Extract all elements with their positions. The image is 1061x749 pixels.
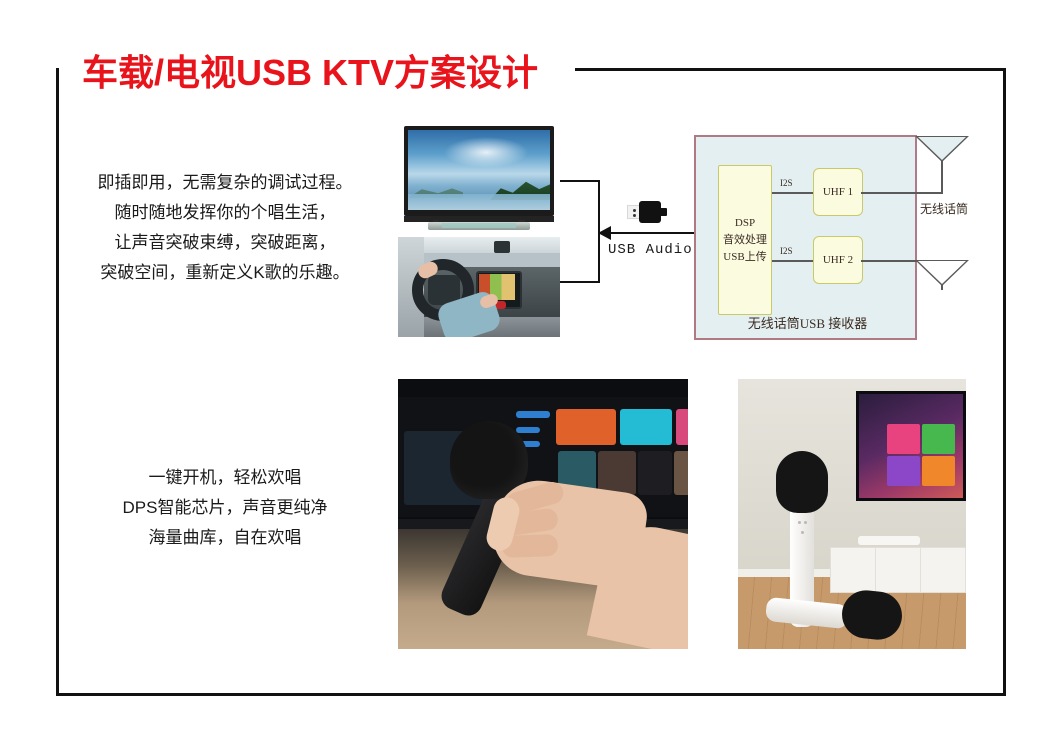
mic-control-dot-1 — [798, 521, 801, 524]
feature-copy-bottom: 一键开机，轻松欢唱 DPS智能芯片，声音更纯净 海量曲库，自在欢唱 — [70, 463, 380, 553]
antenna-feed-line-1 — [861, 192, 942, 194]
room-tv-cabinet — [830, 547, 966, 593]
room-tv-screen — [859, 394, 963, 498]
usb-cable-stub — [660, 208, 667, 216]
tv-wallpaper-lake — [408, 194, 550, 210]
copy-top-line-2: 随时随地发挥你的个唱生活， — [70, 198, 380, 228]
display-menu-chip-2 — [516, 427, 540, 433]
display-tile-cyan — [620, 409, 672, 445]
wireless-receiver-block-diagram: DSP 音效处理 USB上传 UHF 1 UHF 2 I2S I2S 无线话筒U… — [694, 135, 917, 340]
tv-app-tile-purple — [887, 456, 920, 486]
uhf2-block: UHF 2 — [813, 236, 863, 284]
tv-app-tile-orange — [922, 456, 955, 486]
standing-microphone-foam-head — [776, 451, 828, 513]
room-soundbar — [858, 536, 920, 545]
dsp-line-1: DSP — [735, 215, 755, 232]
room-cabinet-divider-1 — [875, 547, 876, 593]
room-cabinet-divider-2 — [920, 547, 921, 593]
frame-bottom-border — [56, 693, 1006, 696]
page-title: 车载/电视USB KTV方案设计 — [82, 44, 538, 96]
antenna-icon-1-inner — [918, 137, 966, 160]
antenna-icon-2-inner — [918, 261, 966, 284]
frame-left-border — [56, 68, 59, 696]
tv-product-photo — [398, 124, 560, 232]
dsp-line-3: USB上传 — [723, 249, 766, 266]
usb-audio-signal-line — [600, 232, 704, 234]
antenna-stem-1 — [941, 161, 943, 194]
wireless-microphone-label: 无线话筒 — [920, 200, 968, 217]
diagram-caption: 无线话筒USB 接收器 — [696, 313, 919, 332]
uhf1-block: UHF 1 — [813, 168, 863, 216]
i2s-label-1: I2S — [780, 178, 793, 188]
tv-stand-base-accent — [442, 223, 516, 228]
copy-top-line-4: 突破空间，重新定义K歌的乐趣。 — [70, 258, 380, 288]
slide-canvas: 车载/电视USB KTV方案设计 即插即用，无需复杂的调试过程。 随时随地发挥你… — [0, 0, 1061, 749]
usb-audio-label: USB Audio — [608, 242, 693, 258]
mic-control-dot-3 — [801, 531, 804, 534]
copy-bottom-line-1: 一键开机，轻松欢唱 — [70, 463, 380, 493]
uhf2-label: UHF 2 — [823, 252, 853, 269]
microphone-in-car-photo — [398, 379, 688, 649]
uhf1-label: UHF 1 — [823, 184, 853, 201]
mic-control-dot-2 — [804, 521, 807, 524]
tv-app-tile-green — [922, 424, 955, 454]
tv-screen-wallpaper — [408, 130, 550, 210]
display-tile-thumb-2 — [598, 451, 636, 495]
dsp-block: DSP 音效处理 USB上传 — [718, 165, 772, 315]
frame-right-border — [1003, 68, 1006, 696]
i2s-label-2: I2S — [780, 246, 793, 256]
copy-bottom-line-2: DPS智能芯片，声音更纯净 — [70, 493, 380, 523]
frame-top-rule — [575, 68, 1006, 71]
i2s-bus-line-1 — [772, 192, 813, 194]
display-tile-orange — [556, 409, 616, 445]
usb-plug-body — [639, 201, 661, 223]
dsp-line-2: 音效处理 — [723, 232, 767, 249]
display-menu-chip — [516, 411, 550, 418]
microphones-in-living-room-photo — [738, 379, 966, 649]
usb-connector-icon — [627, 201, 667, 223]
usb-audio-arrow-icon — [598, 226, 611, 240]
car-interior-photo — [398, 237, 560, 337]
display-tile-thumb-4 — [674, 451, 688, 495]
display-tile-thumb-3 — [638, 451, 672, 495]
car-rearview-camera — [494, 241, 510, 253]
feature-copy-top: 即插即用，无需复杂的调试过程。 随时随地发挥你的个唱生活， 让声音突破束缚，突破… — [70, 168, 380, 288]
i2s-bus-line-2 — [772, 260, 813, 262]
usb-tip-dot-2 — [633, 214, 636, 217]
tv-connector-line — [560, 180, 600, 182]
display-tile-pink — [676, 409, 688, 445]
car-connector-line — [560, 281, 600, 283]
copy-bottom-line-3: 海量曲库，自在欢唱 — [70, 523, 380, 553]
tv-app-tile-pink — [887, 424, 920, 454]
usb-tip-dot-1 — [633, 209, 636, 212]
copy-top-line-1: 即插即用，无需复杂的调试过程。 — [70, 168, 380, 198]
copy-top-line-3: 让声音突破束缚，突破距离， — [70, 228, 380, 258]
